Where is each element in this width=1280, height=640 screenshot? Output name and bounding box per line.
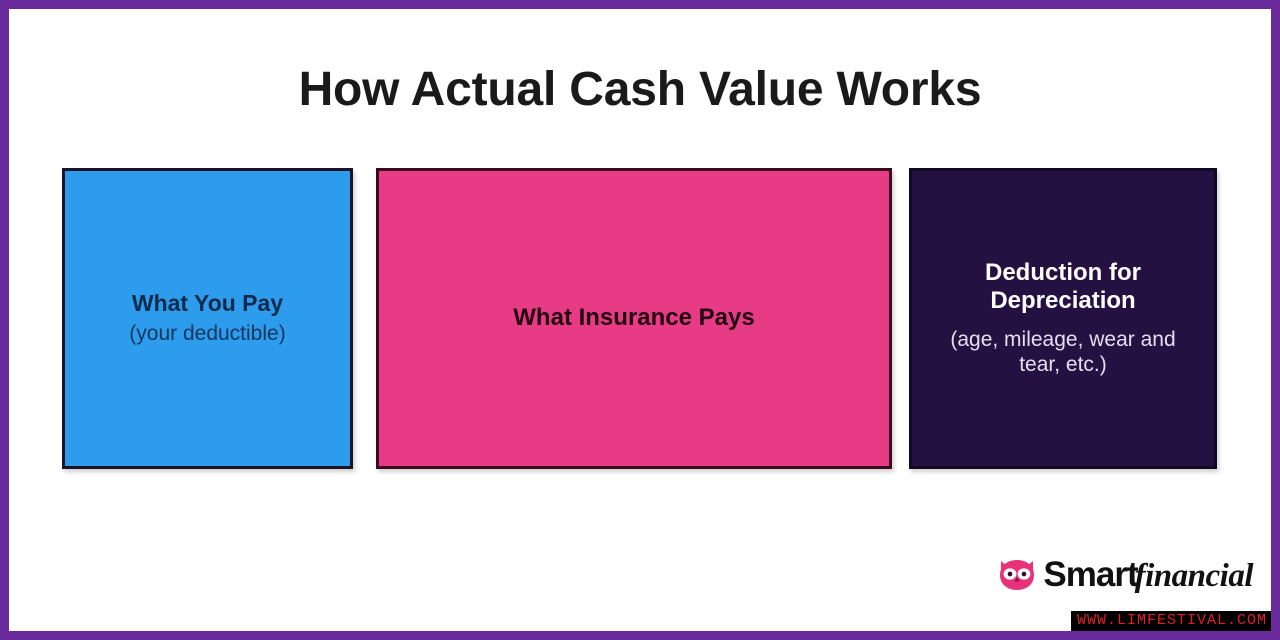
box-deduction-for-depreciation: Deduction for Depreciation (age, mileage… bbox=[909, 168, 1217, 469]
box-what-insurance-pays-title: What Insurance Pays bbox=[513, 304, 754, 332]
box-what-insurance-pays: What Insurance Pays bbox=[376, 168, 892, 469]
frame-border-bottom bbox=[0, 631, 1280, 640]
box-what-you-pay: What You Pay (your deductible) bbox=[62, 168, 353, 469]
site-watermark: WWW.LIMFESTIVAL.COM bbox=[1071, 611, 1271, 631]
frame-border-right bbox=[1271, 0, 1280, 640]
owl-icon bbox=[998, 558, 1036, 592]
box-deduction-for-depreciation-title: Deduction for Depreciation bbox=[948, 259, 1178, 316]
brand-logo: Smart financial bbox=[998, 553, 1253, 597]
infographic-canvas: How Actual Cash Value Works What You Pay… bbox=[9, 9, 1271, 631]
logo-word-financial: financial bbox=[1135, 558, 1253, 595]
logo-word-smart: Smart bbox=[1043, 555, 1137, 595]
frame-border-left bbox=[0, 0, 9, 640]
value-breakdown-diagram: What You Pay (your deductible) What Insu… bbox=[62, 168, 1222, 469]
box-what-you-pay-subtitle: (your deductible) bbox=[129, 321, 285, 347]
frame-border-top bbox=[0, 0, 1280, 9]
page-title: How Actual Cash Value Works bbox=[9, 62, 1271, 117]
box-deduction-for-depreciation-subtitle: (age, mileage, wear and tear, etc.) bbox=[932, 327, 1194, 378]
box-what-you-pay-title: What You Pay bbox=[132, 290, 283, 317]
infographic-page: How Actual Cash Value Works What You Pay… bbox=[0, 0, 1280, 640]
logo-wordmark: Smart financial bbox=[1043, 555, 1253, 595]
